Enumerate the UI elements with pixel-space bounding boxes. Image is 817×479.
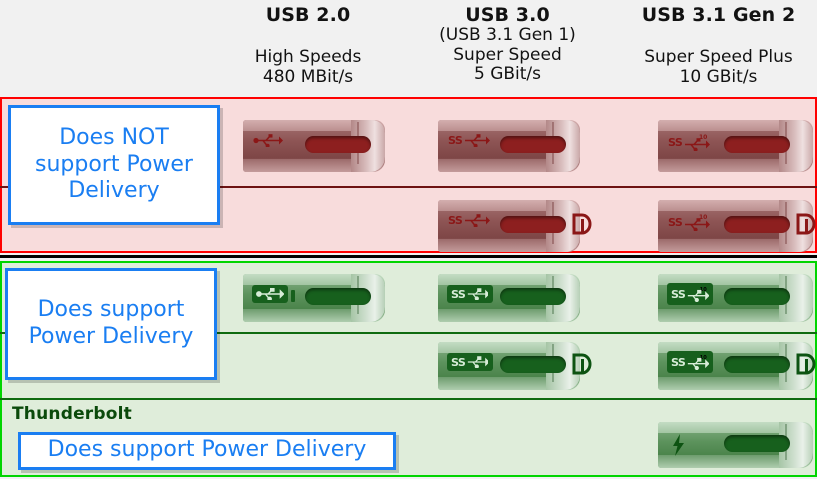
- connector-usb30-pd-with-pd-logo: SS: [438, 340, 580, 398]
- usb-trident-icon: [253, 134, 283, 147]
- usb-c-plug: [243, 274, 385, 322]
- callout-line-1: Does NOT: [35, 125, 193, 152]
- usb-c-slot: [724, 356, 790, 373]
- power-delivery-d-icon: [572, 353, 592, 375]
- usb-c-slot: [305, 288, 371, 305]
- connector-usb31gen2-no-pd-with-pd-logo: SS 10: [658, 192, 813, 260]
- superspeed-10gbps-usb-icon: SS 10: [667, 283, 713, 305]
- usb-trident-icon: [252, 285, 288, 303]
- callout-line-2: support Power: [35, 152, 193, 179]
- usb-c-plug: SS: [438, 342, 580, 390]
- superspeed-usb-icon: SS: [447, 285, 493, 303]
- column-title: USB 2.0: [228, 0, 388, 26]
- usb-power-delivery-chart: USB 2.0 High Speeds 480 MBit/s USB 3.0 (…: [0, 0, 817, 479]
- column-title: USB 3.1 Gen 2: [620, 0, 817, 26]
- connector-usb20-pd: [243, 272, 385, 332]
- superspeed-10gbps-usb-icon: SS 10: [667, 351, 713, 373]
- callout-does-support-power-delivery: Does support Power Delivery: [5, 268, 217, 380]
- superspeed-usb-icon: SS: [448, 134, 490, 147]
- usb-c-plug: [658, 422, 813, 468]
- connector-usb20-no-pd: [243, 112, 385, 180]
- usb-c-plug: SS 10: [658, 120, 813, 172]
- connector-usb31gen2-pd-with-pd-logo: SS 10: [658, 340, 813, 398]
- usb-c-slot: [500, 216, 566, 233]
- connector-usb30-no-pd-with-pd-logo: SS: [438, 192, 580, 260]
- power-delivery-d-icon: [796, 213, 816, 235]
- superspeed-usb-icon: SS: [447, 353, 493, 371]
- column-speed-name: High Speeds: [228, 48, 388, 68]
- column-speed-value: 480 MBit/s: [228, 68, 388, 88]
- row-divider: [0, 398, 817, 400]
- usb-c-plug: SS 10: [658, 200, 813, 252]
- connector-usb30-pd: SS: [438, 272, 580, 332]
- column-speed-value: 10 GBit/s: [620, 68, 817, 88]
- usb-c-slot: [500, 288, 566, 305]
- thunderbolt-heading: Thunderbolt: [12, 404, 132, 424]
- usb-c-plug: [243, 120, 385, 172]
- thunderbolt-bolt-icon: [672, 434, 686, 460]
- usb-c-slot: [724, 136, 790, 153]
- connector-usb31gen2-no-pd: SS 10: [658, 112, 813, 180]
- callout-does-not-support-power-delivery: Does NOT support Power Delivery: [8, 105, 220, 225]
- connector-usb31gen2-pd: SS 10: [658, 272, 813, 332]
- superspeed-10gbps-usb-icon: SS 10: [668, 214, 710, 231]
- superspeed-10gbps-usb-icon: SS 10: [668, 134, 710, 151]
- power-delivery-d-icon: [572, 213, 592, 235]
- connector-usb30-no-pd: SS: [438, 112, 580, 180]
- usb-c-slot: [724, 216, 790, 233]
- usb-c-slot: [724, 288, 790, 305]
- column-speed-value: 5 GBit/s: [425, 65, 590, 85]
- usb-c-plug: SS 10: [658, 274, 813, 322]
- power-delivery-d-icon: [796, 353, 816, 375]
- column-header-row: USB 2.0 High Speeds 480 MBit/s USB 3.0 (…: [0, 0, 817, 96]
- callout-thunderbolt-power-delivery: Does support Power Delivery: [18, 432, 396, 470]
- usb-c-plug: SS: [438, 200, 580, 252]
- column-subtitle: (USB 3.1 Gen 1): [425, 26, 590, 46]
- column-speed-name: Super Speed: [425, 46, 590, 66]
- column-speed-name: Super Speed Plus: [620, 48, 817, 68]
- usb-c-plug: SS 10: [658, 342, 813, 390]
- usb-c-slot: [500, 136, 566, 153]
- usb-c-plug: SS: [438, 274, 580, 322]
- column-header-usb20: USB 2.0 High Speeds 480 MBit/s: [228, 0, 388, 87]
- column-header-usb30: USB 3.0 (USB 3.1 Gen 1) Super Speed 5 GB…: [425, 0, 590, 85]
- column-title: USB 3.0: [425, 0, 590, 26]
- usb-c-slot: [500, 356, 566, 373]
- superspeed-usb-icon: SS: [448, 214, 490, 227]
- callout-line-3: Delivery: [35, 178, 193, 205]
- callout-line-2: Power Delivery: [29, 324, 194, 351]
- callout-line-1: Does support: [29, 297, 194, 324]
- usb-c-slot: [724, 435, 790, 452]
- callout-text: Does support Power Delivery: [48, 437, 367, 466]
- usb-c-slot: [305, 136, 371, 153]
- usb-c-plug: SS: [438, 120, 580, 172]
- column-header-usb31gen2: USB 3.1 Gen 2 Super Speed Plus 10 GBit/s: [620, 0, 817, 87]
- connector-thunderbolt: [658, 422, 813, 474]
